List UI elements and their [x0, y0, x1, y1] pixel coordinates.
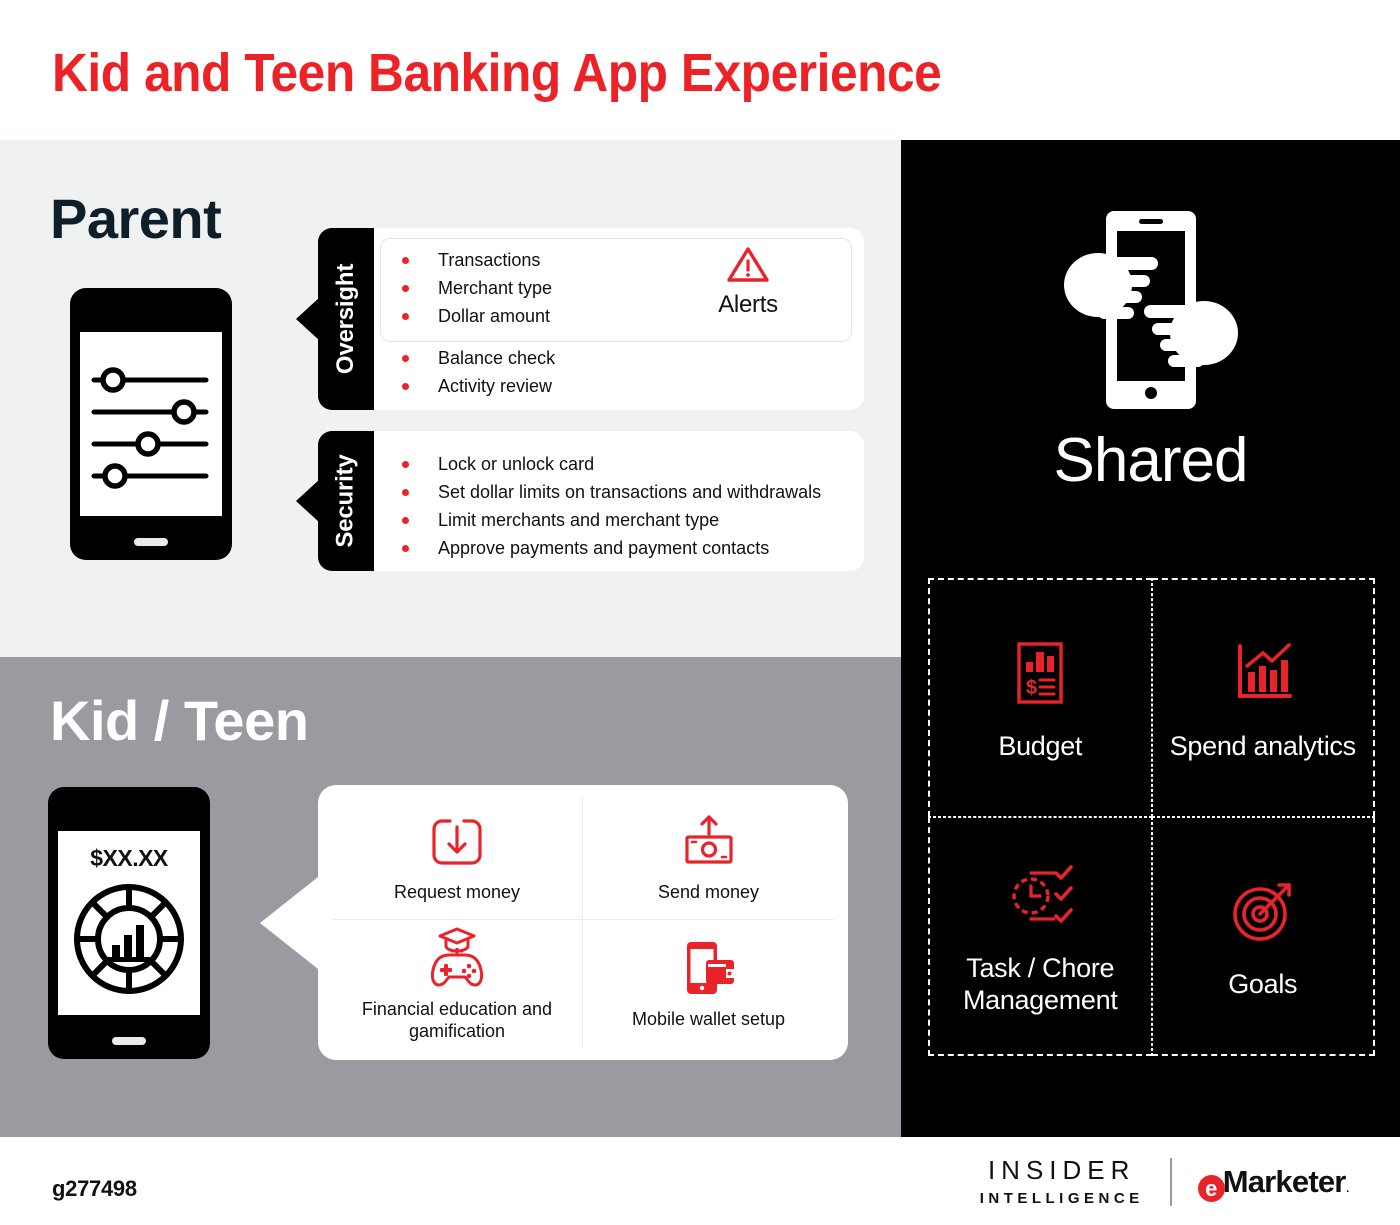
- logo-divider: [1170, 1158, 1172, 1206]
- donut-bar-chart-icon: [58, 877, 200, 1007]
- shared-feature-label: Spend analytics: [1170, 730, 1356, 762]
- shared-feature-budget[interactable]: $ Budget: [928, 578, 1152, 817]
- kid-heading: Kid / Teen: [50, 688, 308, 753]
- alerts-block: Alerts: [688, 244, 808, 319]
- list-item: Balance check: [380, 344, 555, 372]
- shared-feature-task-chore[interactable]: Task / Chore Management: [928, 817, 1152, 1056]
- footer-logos: INSIDER INTELLIGENCE e Marketer .: [980, 1157, 1350, 1206]
- parent-heading: Parent: [50, 186, 221, 251]
- kid-phone-illustration: $XX.XX: [48, 787, 210, 1059]
- shared-feature-label: Budget: [998, 730, 1082, 762]
- shared-feature-icon-wrap: [1231, 872, 1295, 950]
- kid-balance-amount: $XX.XX: [58, 845, 200, 872]
- kid-card-pointer: [260, 877, 318, 969]
- kid-feature-label: Request money: [394, 881, 520, 903]
- kid-phone-home-button: [112, 1037, 146, 1045]
- kid-feature-mobile-wallet[interactable]: Mobile wallet setup: [583, 920, 834, 1048]
- shared-feature-spend-analytics[interactable]: Spend analytics: [1152, 578, 1376, 817]
- clock-checklist-icon: [1004, 864, 1076, 926]
- chart-code: g277498: [52, 1176, 137, 1202]
- list-item: Dollar amount: [380, 302, 552, 330]
- warning-triangle-icon: [725, 244, 771, 284]
- list-item: Approve payments and payment contacts: [380, 534, 821, 562]
- oversight-list: Balance check Activity review: [380, 344, 555, 400]
- graduation-gamepad-icon: [424, 926, 490, 988]
- budget-document-icon: $: [1013, 640, 1067, 706]
- kid-feature-label: Financial education and gamification: [340, 998, 574, 1042]
- security-card: Security Lock or unlock card Set dollar …: [318, 431, 864, 571]
- kid-feature-label: Mobile wallet setup: [632, 1008, 785, 1030]
- security-tab-label: Security: [332, 454, 360, 547]
- list-item: Set dollar limits on transactions and wi…: [380, 478, 821, 506]
- security-tab-notch: [296, 479, 320, 523]
- target-arrow-icon: [1231, 879, 1295, 943]
- kid-features-grid: Request money Send money: [332, 797, 834, 1048]
- sliders-phone-icon: [80, 332, 222, 516]
- parent-phone-home-button: [134, 538, 168, 546]
- two-hands-phone-icon: [1036, 205, 1266, 415]
- emarketer-wordmark: Marketer: [1223, 1164, 1346, 1200]
- kid-feature-financial-education[interactable]: Financial education and gamification: [332, 920, 583, 1048]
- oversight-tab-notch: [296, 297, 320, 341]
- parent-phone-illustration: [70, 288, 232, 560]
- kid-features-card: Request money Send money: [318, 785, 848, 1060]
- shared-heading: Shared: [901, 425, 1400, 496]
- kid-feature-label: Send money: [658, 881, 759, 903]
- kid-phone-screen: $XX.XX: [58, 831, 200, 1015]
- shared-feature-icon-wrap: $: [1013, 634, 1067, 712]
- shared-feature-icon-wrap: [1232, 634, 1294, 712]
- shared-feature-label: Goals: [1228, 968, 1297, 1000]
- insider-logo-line2: INTELLIGENCE: [980, 1191, 1144, 1206]
- security-list: Lock or unlock card Set dollar limits on…: [380, 450, 821, 562]
- list-item: Lock or unlock card: [380, 450, 821, 478]
- kid-feature-request-money[interactable]: Request money: [332, 797, 583, 920]
- shared-feature-icon-wrap: [1004, 856, 1076, 934]
- oversight-card: Oversight Transactions Merchant type Dol…: [318, 228, 864, 410]
- svg-text:$: $: [1026, 677, 1037, 699]
- list-item: Transactions: [380, 246, 552, 274]
- list-item: Merchant type: [380, 274, 552, 302]
- infographic-page: Kid and Teen Banking App Experience Pare…: [0, 0, 1400, 1225]
- shared-feature-goals[interactable]: Goals: [1152, 817, 1376, 1056]
- alerts-label: Alerts: [688, 291, 808, 319]
- parent-phone-screen: [80, 332, 222, 516]
- page-title: Kid and Teen Banking App Experience: [52, 42, 941, 104]
- insider-logo-line1: INSIDER: [980, 1157, 1144, 1183]
- security-tab: Security: [318, 431, 374, 571]
- emarketer-e-mark: e: [1198, 1175, 1225, 1202]
- oversight-tab-label: Oversight: [332, 264, 360, 374]
- list-item: Limit merchants and merchant type: [380, 506, 821, 534]
- send-banknote-icon: [678, 813, 740, 871]
- oversight-highlight-list: Transactions Merchant type Dollar amount: [380, 246, 552, 330]
- insider-intelligence-logo: INSIDER INTELLIGENCE: [980, 1157, 1144, 1206]
- phone-wallet-icon: [677, 938, 741, 998]
- oversight-tab: Oversight: [318, 228, 374, 410]
- emarketer-dot: .: [1346, 1179, 1350, 1197]
- emarketer-logo: e Marketer .: [1198, 1164, 1350, 1200]
- shared-feature-label: Task / Chore Management: [940, 952, 1141, 1016]
- list-item: Activity review: [380, 372, 555, 400]
- download-money-icon: [428, 813, 486, 871]
- bar-chart-trend-icon: [1232, 642, 1294, 704]
- security-card-body: Lock or unlock card Set dollar limits on…: [374, 431, 864, 571]
- oversight-card-body: Transactions Merchant type Dollar amount…: [374, 228, 864, 410]
- shared-features-grid: $ Budget Spend analytics: [928, 578, 1375, 1056]
- kid-feature-send-money[interactable]: Send money: [583, 797, 834, 920]
